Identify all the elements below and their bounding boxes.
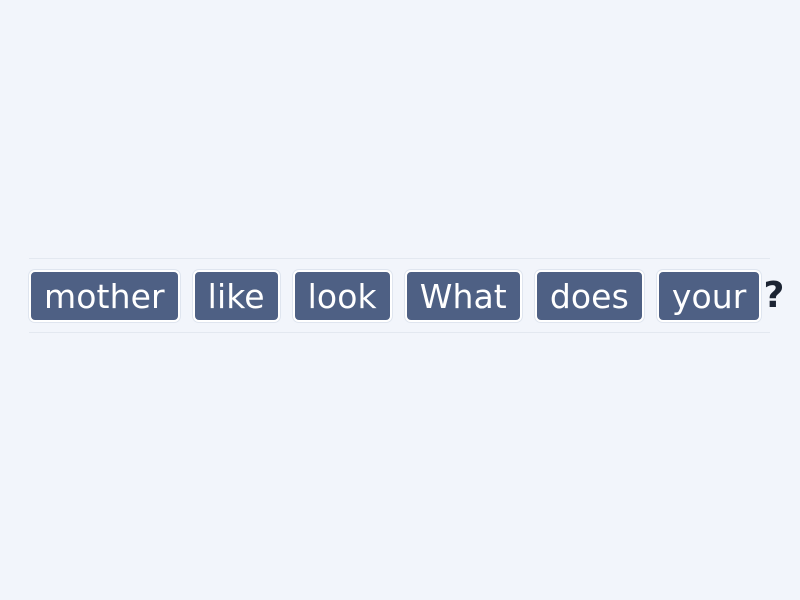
word-tile-look[interactable]: look	[293, 270, 392, 322]
word-scramble-exercise: mother like look What does your ?	[0, 0, 800, 600]
word-tile-row: mother like look What does your ?	[29, 259, 770, 332]
word-tile-what[interactable]: What	[405, 270, 522, 322]
word-tile-label: like	[208, 280, 265, 313]
word-tile-label: your	[672, 280, 747, 313]
word-tile-label: look	[308, 280, 377, 313]
word-tile-your[interactable]: your	[657, 270, 762, 322]
word-tile-label: does	[550, 280, 629, 313]
word-tile-label: mother	[44, 280, 165, 313]
word-tile-label: What	[420, 280, 507, 313]
word-tile-does[interactable]: does	[535, 270, 644, 322]
strip-bottom-divider	[29, 332, 770, 333]
word-tile-mother[interactable]: mother	[29, 270, 180, 322]
word-bank-strip: mother like look What does your ?	[29, 258, 770, 333]
terminal-punctuation-mark: ?	[763, 278, 784, 314]
word-tile-like[interactable]: like	[193, 270, 280, 322]
